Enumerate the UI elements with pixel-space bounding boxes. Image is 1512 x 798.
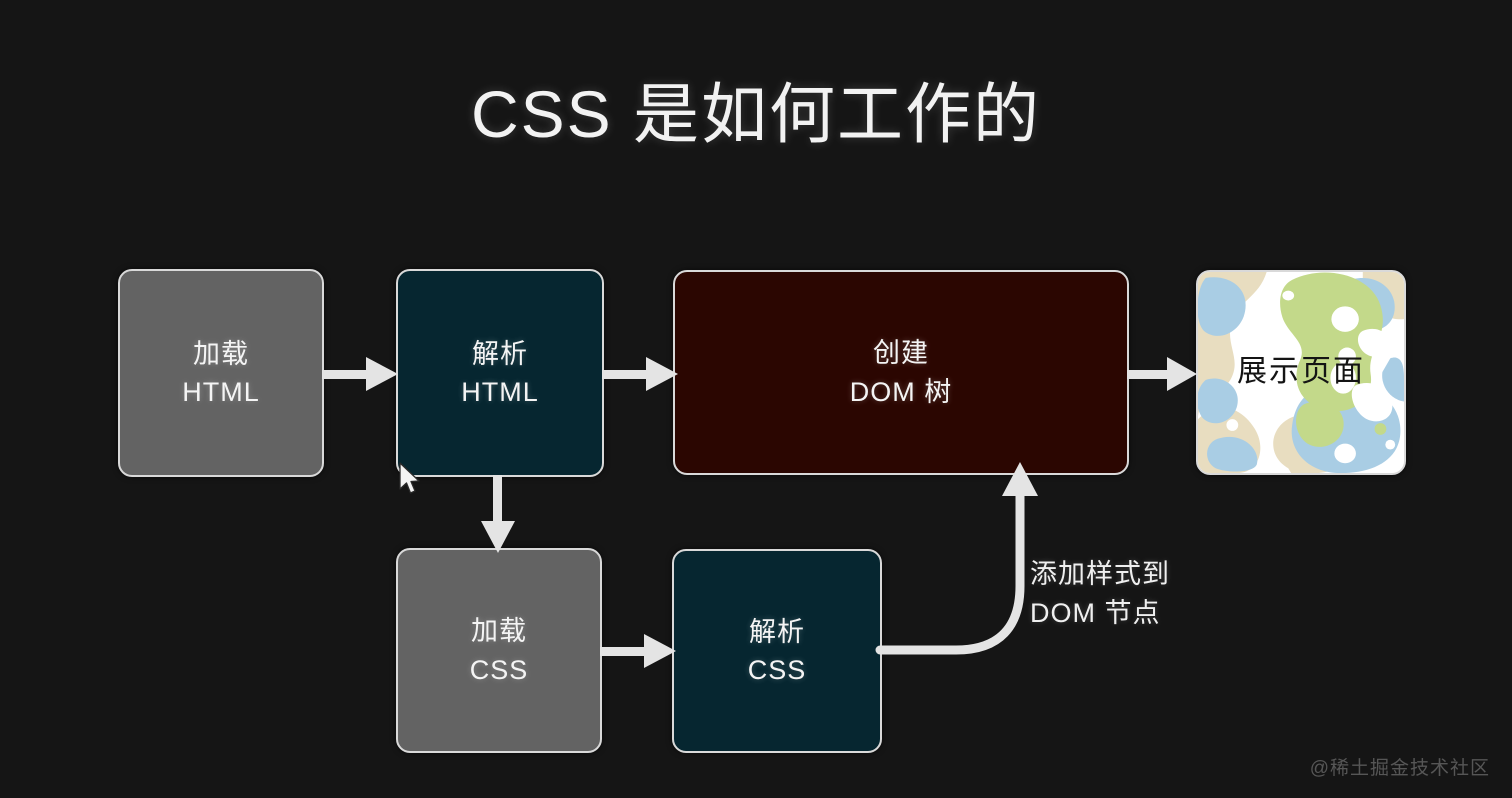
node-parse-html[interactable]: 解析 HTML — [396, 269, 604, 477]
node-load-css-line1: 加载 — [471, 612, 527, 650]
node-load-css-line2: CSS — [470, 651, 529, 689]
curved-arrow-label-line1: 添加样式到 — [1030, 555, 1170, 594]
node-render-page-label: 展示页面 — [1237, 351, 1365, 394]
node-render-page[interactable]: 展示页面 — [1196, 270, 1406, 475]
node-parse-css-line2: CSS — [748, 651, 807, 689]
arrow-parse-html-to-load-css — [478, 475, 518, 555]
node-load-html-line2: HTML — [182, 373, 260, 411]
arrow-load-html-to-parse-html — [322, 355, 400, 393]
node-parse-html-line2: HTML — [461, 373, 539, 411]
node-load-css[interactable]: 加载 CSS — [396, 548, 602, 753]
node-dom-tree-line2: DOM 树 — [850, 373, 953, 411]
page-title: CSS 是如何工作的 — [0, 78, 1512, 151]
node-parse-css[interactable]: 解析 CSS — [672, 549, 882, 753]
arrow-dom-tree-to-render — [1127, 355, 1199, 393]
arrow-load-css-to-parse-css — [600, 632, 678, 670]
node-load-html-line1: 加载 — [193, 335, 249, 373]
node-load-html[interactable]: 加载 HTML — [118, 269, 324, 477]
watermark: @稀土掘金技术社区 — [1310, 753, 1490, 780]
curved-arrow-label: 添加样式到 DOM 节点 — [1030, 555, 1170, 633]
arrow-parse-html-to-dom-tree — [602, 355, 680, 393]
node-dom-tree-line1: 创建 — [873, 334, 929, 372]
curved-arrow-label-line2: DOM 节点 — [1030, 594, 1170, 633]
node-parse-html-line1: 解析 — [472, 335, 528, 373]
node-parse-css-line1: 解析 — [749, 613, 805, 651]
slide-canvas: CSS 是如何工作的 加载 HTML 解析 HTML 创建 DOM 树 — [0, 0, 1512, 798]
